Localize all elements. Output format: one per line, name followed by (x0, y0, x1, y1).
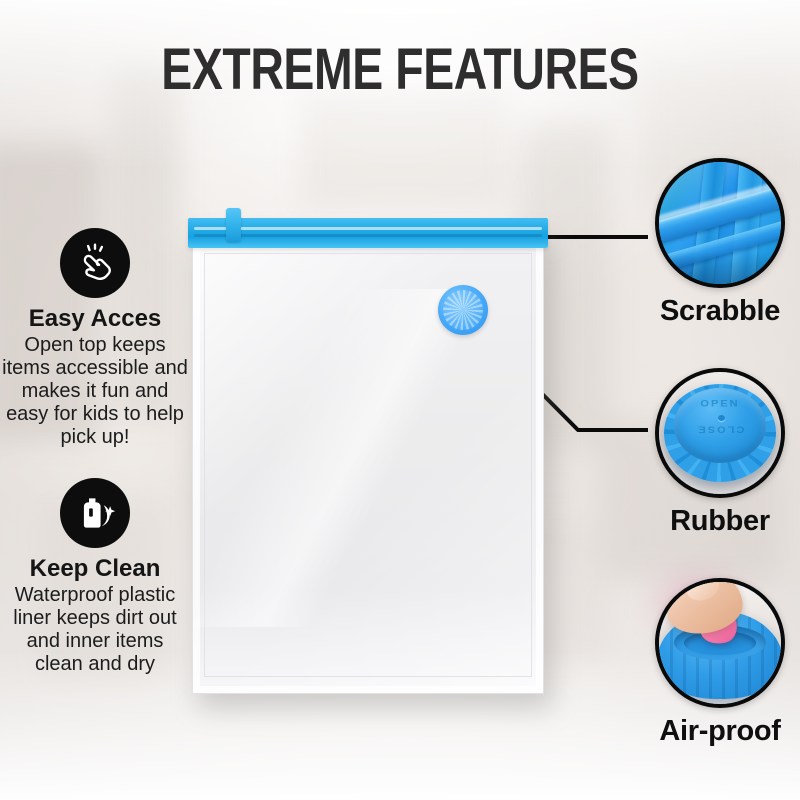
feature-description: Waterproof plastic liner keeps dirt out … (0, 584, 190, 676)
valve-cap-closeup-photo: OPEN CLOSE (655, 368, 785, 498)
cap-center-nub (718, 415, 725, 421)
callout-rubber: OPEN CLOSE Rubber (620, 368, 800, 537)
feature-easy-access: Easy Acces Open top keeps items accessib… (0, 228, 190, 449)
cap-photo-fill: OPEN CLOSE (659, 372, 781, 494)
page-title: EXTREME FEATURES (80, 40, 720, 100)
zipper-groove-bottom (194, 234, 542, 237)
air-photo-fill (659, 582, 781, 704)
callout-label: Rubber (620, 506, 800, 537)
detergent-bottle-sparkle-icon (60, 478, 130, 548)
zipper-slider-closeup-photo (655, 158, 785, 288)
zipper-groove-top (194, 227, 542, 230)
bag-body (192, 222, 544, 694)
callout-label: Scrabble (620, 296, 800, 327)
tap-hand-icon (60, 228, 130, 298)
cap-open-embossing: OPEN (674, 400, 767, 410)
infographic-canvas: EXTREME FEATURES Easy Acces (0, 0, 800, 800)
zipper-slider (226, 208, 241, 242)
zipper-shadow (659, 252, 781, 284)
air-valve-closeup-photo (655, 578, 785, 708)
product-vacuum-bag (192, 222, 544, 694)
fingernail (683, 578, 723, 605)
feature-description: Open top keeps items accessible and make… (0, 334, 190, 449)
cap-close-embossing: CLOSE (674, 424, 767, 434)
zipper-photo-fill (659, 162, 781, 284)
feature-title: Keep Clean (0, 556, 190, 582)
bag-sheen (193, 289, 543, 627)
bag-air-valve (438, 285, 488, 335)
feature-title: Easy Acces (0, 306, 190, 332)
callout-scrabble: Scrabble (620, 158, 800, 327)
feature-keep-clean: Keep Clean Waterproof plastic liner keep… (0, 478, 190, 676)
callout-air-proof: Air-proof (620, 578, 800, 747)
callout-label: Air-proof (620, 716, 800, 747)
bag-zipper-strip (188, 218, 548, 248)
